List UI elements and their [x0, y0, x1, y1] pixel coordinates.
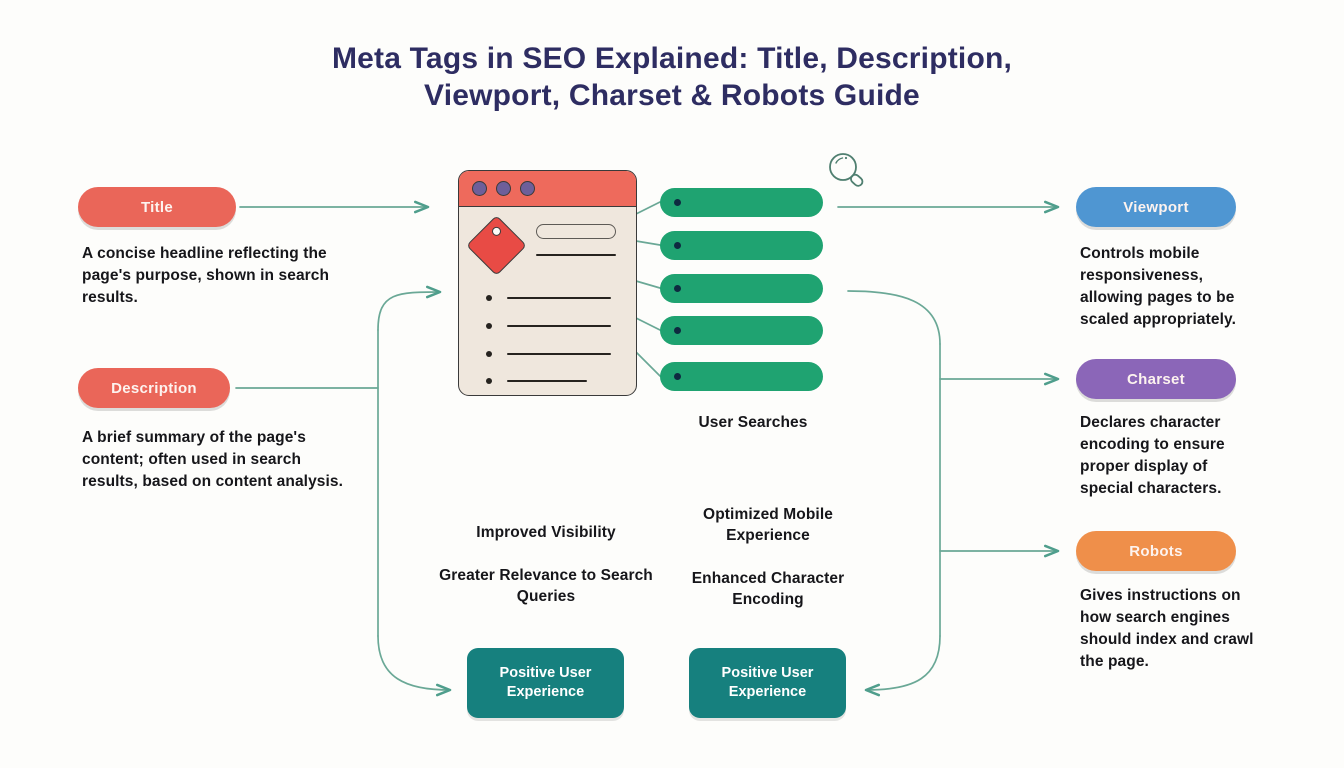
- pill-charset[interactable]: Charset: [1076, 359, 1236, 399]
- window-dot-icon: [496, 181, 511, 196]
- search-result-pill: [660, 274, 823, 303]
- wire-doc-to-pill-5: [636, 352, 660, 376]
- document-bullet-icon: [486, 378, 492, 384]
- description-title: A concise headline reflecting the page's…: [82, 243, 347, 309]
- wire-doc-to-pill-2: [636, 241, 660, 245]
- benefit-optimized-mobile: Optimized Mobile Experience: [665, 504, 871, 546]
- outcome-box-right: Positive User Experience: [689, 648, 846, 718]
- description-viewport: Controls mobile responsiveness, allowing…: [1080, 243, 1265, 331]
- window-dot-icon: [520, 181, 535, 196]
- meta-tag-icon: [466, 215, 527, 276]
- benefit-greater-relevance: Greater Relevance to Search Queries: [430, 565, 662, 607]
- document-title-bar: [459, 171, 636, 207]
- document-bullet-icon: [486, 323, 492, 329]
- wire-trunk-down-to-outcome-left: [378, 636, 450, 690]
- pill-robots-label: Robots: [1129, 543, 1182, 560]
- pill-viewport[interactable]: Viewport: [1076, 187, 1236, 227]
- description-description: A brief summary of the page's content; o…: [82, 427, 354, 493]
- infographic-canvas: Meta Tags in SEO Explained: Title, Descr…: [0, 0, 1344, 768]
- benefit-improved-visibility: Improved Visibility: [440, 522, 652, 543]
- document-text-line: [507, 353, 611, 355]
- wire-doc-to-pill-3: [636, 281, 660, 288]
- pill-title-label: Title: [141, 199, 173, 216]
- page-title-line-2: Viewport, Charset & Robots Guide: [0, 77, 1344, 114]
- caption-user-searches: User Searches: [655, 412, 851, 433]
- pill-title[interactable]: Title: [78, 187, 236, 227]
- search-result-pill: [660, 316, 823, 345]
- webpage-document-illustration: [458, 170, 637, 396]
- wire-to-right-trunk-top: [848, 291, 940, 344]
- outcome-box-left-label: Positive User Experience: [467, 664, 624, 702]
- pill-description[interactable]: Description: [78, 368, 230, 408]
- description-charset: Declares character encoding to ensure pr…: [1080, 412, 1260, 500]
- outcome-box-left: Positive User Experience: [467, 648, 624, 718]
- document-bullet-icon: [486, 295, 492, 301]
- wire-doc-to-pill-1: [636, 202, 660, 214]
- search-result-pill: [660, 231, 823, 260]
- wire-trunk-down-to-outcome-right: [866, 636, 940, 690]
- document-text-line: [507, 297, 611, 299]
- pill-description-label: Description: [111, 380, 197, 397]
- wire-trunk-up-to-document: [378, 292, 440, 330]
- document-text-line: [507, 325, 611, 327]
- document-text-line: [507, 380, 587, 382]
- page-title: Meta Tags in SEO Explained: Title, Descr…: [0, 40, 1344, 114]
- window-dot-icon: [472, 181, 487, 196]
- document-title-field: [536, 224, 616, 239]
- search-result-pill: [660, 362, 823, 391]
- pill-robots[interactable]: Robots: [1076, 531, 1236, 571]
- search-result-pill: [660, 188, 823, 217]
- page-title-line-1: Meta Tags in SEO Explained: Title, Descr…: [0, 40, 1344, 77]
- document-bullet-icon: [486, 351, 492, 357]
- outcome-box-right-label: Positive User Experience: [689, 664, 846, 702]
- description-robots: Gives instructions on how search engines…: [1080, 585, 1265, 673]
- magnifying-glass-icon: [826, 150, 870, 194]
- benefit-enhanced-encoding: Enhanced Character Encoding: [660, 568, 876, 610]
- document-text-line: [536, 254, 616, 256]
- pill-viewport-label: Viewport: [1123, 199, 1188, 216]
- pill-charset-label: Charset: [1127, 371, 1185, 388]
- wire-doc-to-pill-4: [636, 318, 660, 330]
